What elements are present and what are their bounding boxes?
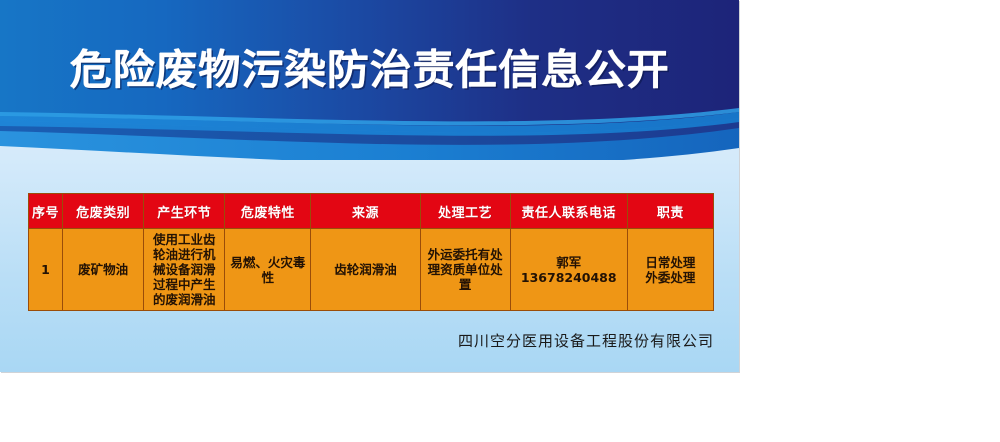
- cell-seq: 1: [29, 229, 63, 311]
- column-header-duty: 职责: [627, 194, 713, 229]
- table-row: 1 废矿物油 使用工业齿轮油进行机械设备润滑过程中产生的废润滑油 易燃、火灾毒性…: [29, 229, 714, 311]
- page-title: 危险废物污染防治责任信息公开: [70, 50, 670, 91]
- company-name: 四川空分医用设备工程股份有限公司: [0, 330, 714, 351]
- column-header-contact: 责任人联系电话: [510, 194, 627, 229]
- cell-stage: 使用工业齿轮油进行机械设备润滑过程中产生的废润滑油: [144, 229, 225, 311]
- table-header-row: 序号 危废类别 产生环节 危废特性 来源 处理工艺 责任人联系电话 职责: [29, 194, 714, 229]
- cell-property: 易燃、火灾毒性: [225, 229, 311, 311]
- column-header-property: 危废特性: [225, 194, 311, 229]
- poster-banner: 危险废物污染防治责任信息公开: [0, 0, 739, 160]
- cell-duty: 日常处理 外委处理: [627, 229, 713, 311]
- poster-title-container: 危险废物污染防治责任信息公开: [0, 0, 739, 140]
- information-disclosure-poster: 危险废物污染防治责任信息公开 序号 危废类别 产生环节 危废特性 来源 处理工艺…: [0, 0, 739, 372]
- cell-source: 齿轮润滑油: [311, 229, 420, 311]
- column-header-process: 处理工艺: [420, 194, 510, 229]
- contact-name: 郭军: [514, 255, 624, 270]
- cell-process: 外运委托有处理资质单位处置: [420, 229, 510, 311]
- column-header-seq: 序号: [29, 194, 63, 229]
- cell-contact: 郭军 13678240488: [510, 229, 627, 311]
- hazardous-waste-table: 序号 危废类别 产生环节 危废特性 来源 处理工艺 责任人联系电话 职责 1 废…: [28, 193, 714, 311]
- cell-category: 废矿物油: [63, 229, 144, 311]
- column-header-source: 来源: [311, 194, 420, 229]
- contact-phone: 13678240488: [514, 270, 624, 285]
- column-header-category: 危废类别: [63, 194, 144, 229]
- column-header-stage: 产生环节: [144, 194, 225, 229]
